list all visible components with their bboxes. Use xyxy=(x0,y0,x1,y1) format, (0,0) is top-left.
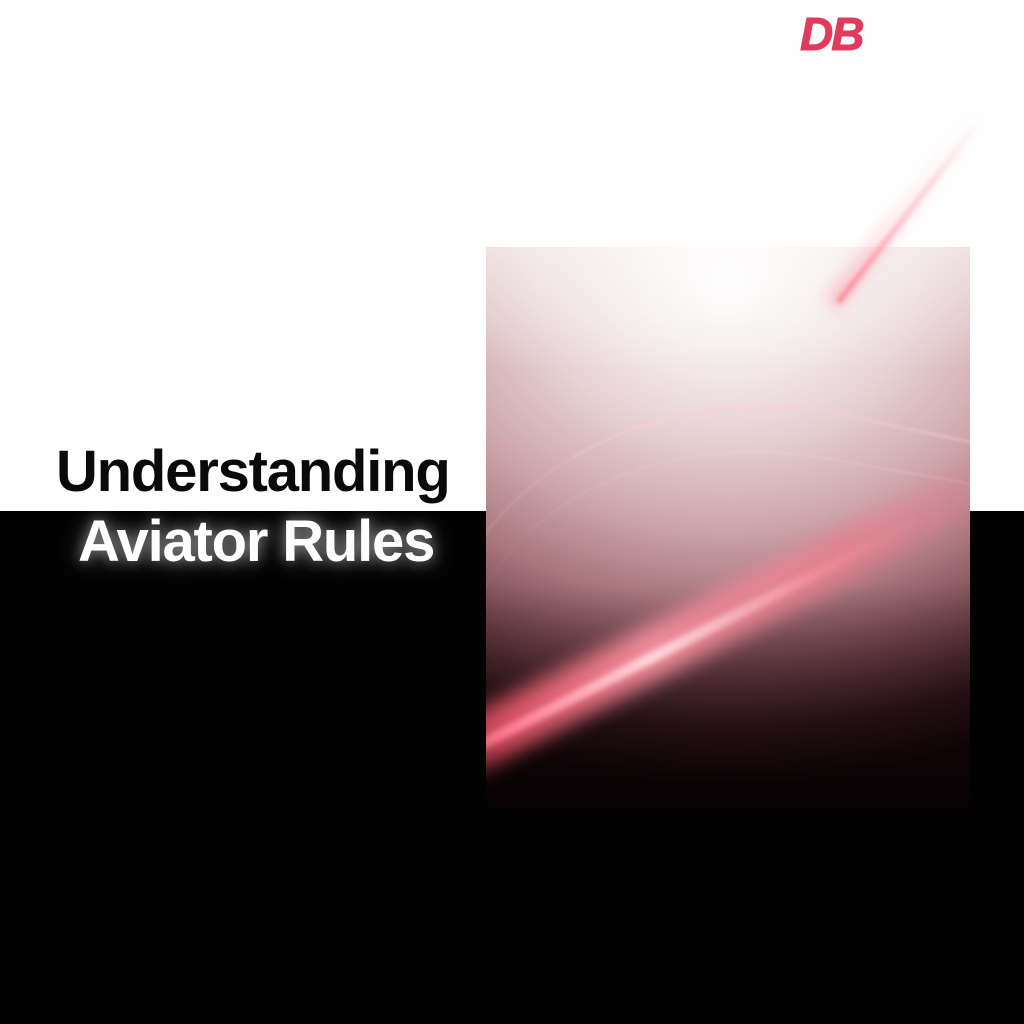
aviator-game-panel: BET 1 10.00 20.00 BET 2 xyxy=(486,247,970,808)
page-title-line-2: Aviator Rules xyxy=(0,507,470,577)
promo-graphic: DB Understanding Aviator Rules xyxy=(0,0,1024,1024)
page-title-line-1: Understanding xyxy=(0,437,470,507)
page-title: Understanding Aviator Rules xyxy=(0,437,470,577)
db-logo: DB xyxy=(800,10,900,58)
db-logo-text: DB xyxy=(800,10,900,58)
